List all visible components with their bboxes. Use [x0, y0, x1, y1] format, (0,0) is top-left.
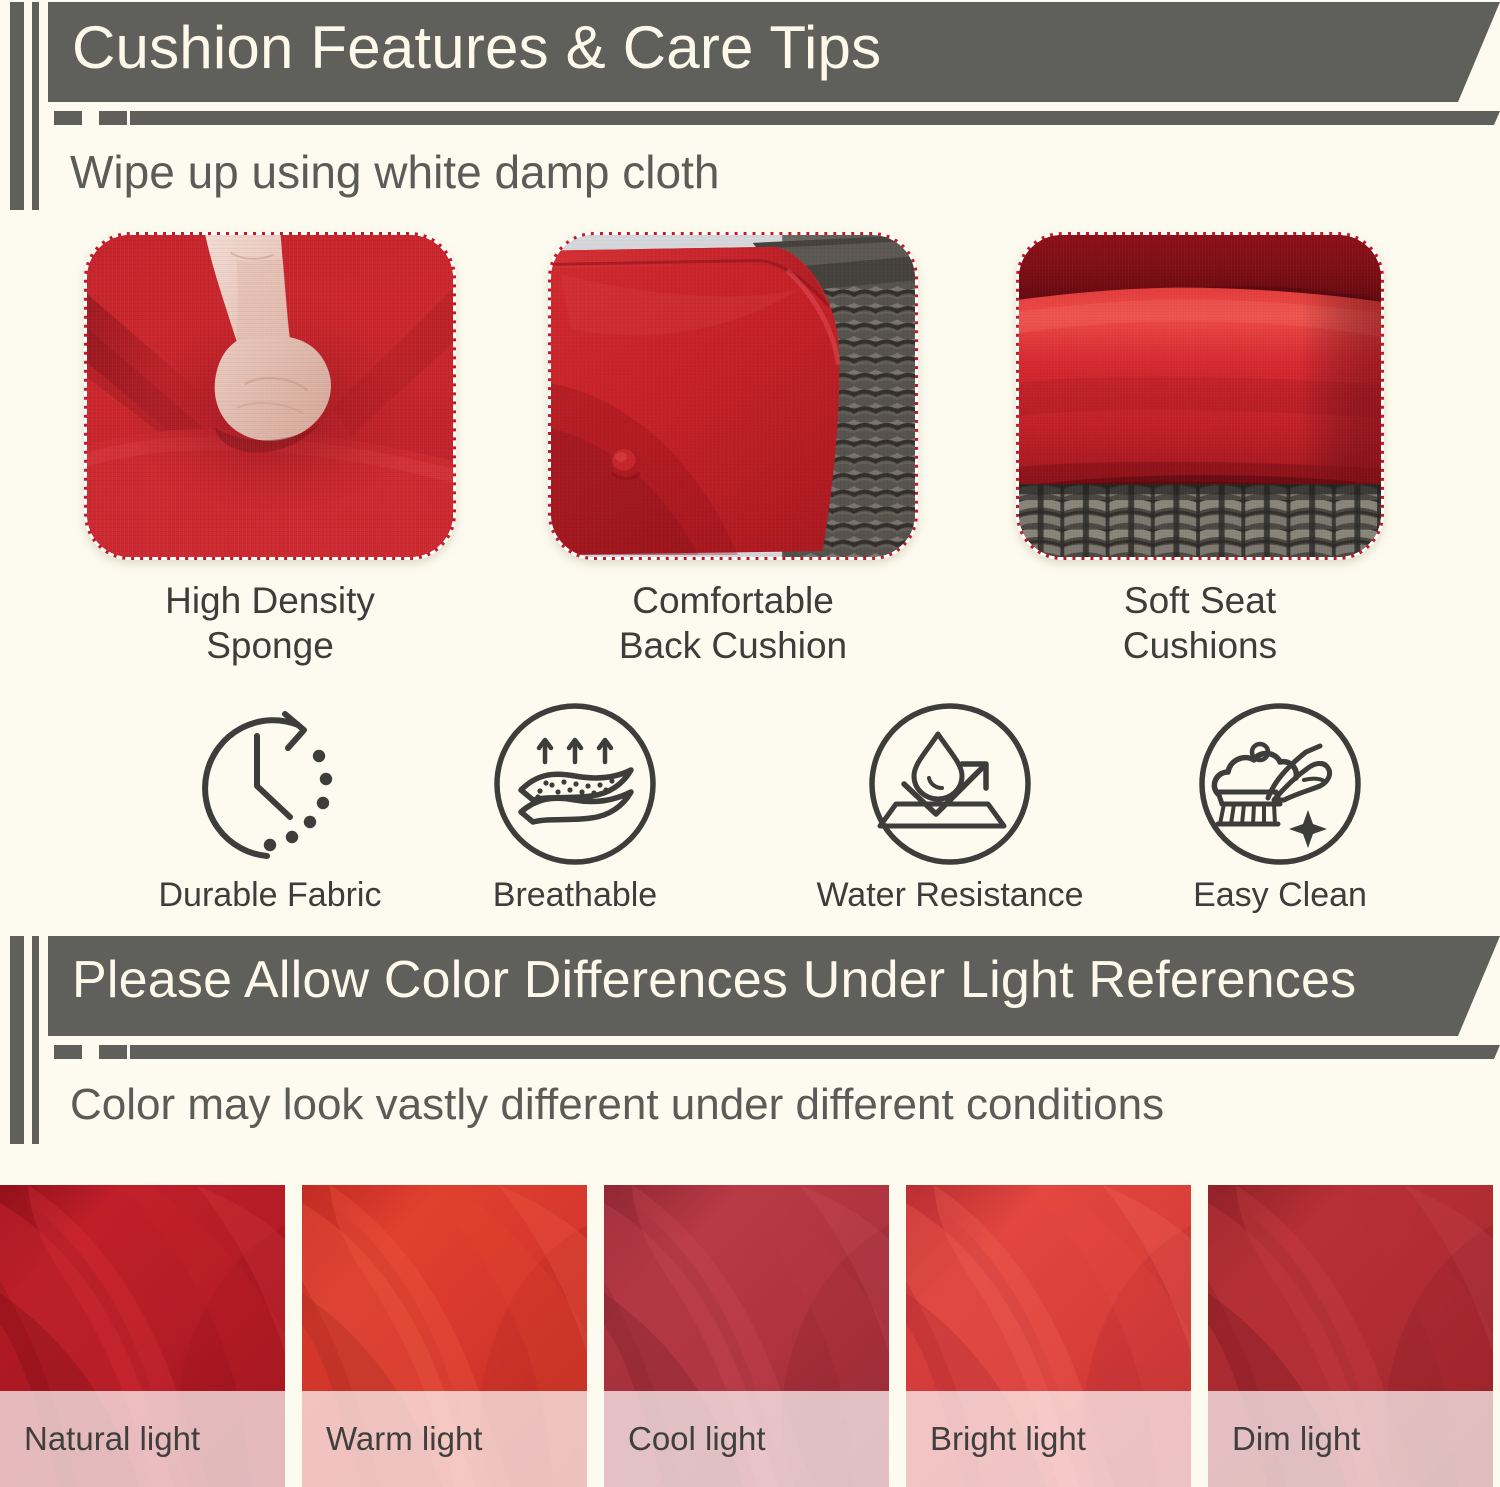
swatch-label-bar: Cool light — [604, 1391, 889, 1487]
dash-segment — [99, 111, 127, 125]
banner-title-2: Please Allow Color Differences Under Lig… — [72, 950, 1356, 1010]
swatch-warm-light: Warm light — [302, 1185, 587, 1487]
feature-durable-fabric: Durable Fabric — [80, 700, 460, 915]
dash-segment — [234, 111, 262, 125]
swatch-label-bar: Natural light — [0, 1391, 285, 1487]
feature-label: Easy Clean — [1130, 876, 1430, 915]
dash-segment — [54, 111, 82, 125]
hand-pressing-cushion-photo — [87, 235, 453, 557]
swatch-natural-light: Natural light — [0, 1185, 285, 1487]
seat-cushion-on-wicker-photo — [1019, 235, 1381, 557]
photo-caption-3: Soft Seat Cushions — [1016, 578, 1384, 668]
water-resistance-icon — [866, 700, 1034, 868]
swatch-dim-light: Dim light — [1208, 1185, 1493, 1487]
caption-line-1: Comfortable — [632, 580, 834, 621]
dash-segment — [234, 1045, 262, 1059]
dash-segment — [99, 1045, 127, 1059]
banner-title-1: Cushion Features & Care Tips — [72, 13, 881, 82]
clock-durability-icon — [186, 700, 354, 868]
breathable-fabric-icon — [491, 700, 659, 868]
subtitle-1: Wipe up using white damp cloth — [70, 145, 719, 199]
subtitle-2: Color may look vastly different under di… — [70, 1080, 1164, 1130]
swatch-label-bar: Warm light — [302, 1391, 587, 1487]
photo-caption-1: High Density Sponge — [84, 578, 456, 668]
dash-segment — [189, 111, 217, 125]
header-accent-bar-thin — [32, 936, 39, 1144]
brush-easy-clean-icon — [1196, 700, 1364, 868]
caption-line-2: Cushions — [1123, 625, 1277, 666]
dash-segment — [189, 1045, 217, 1059]
swatch-label-bar: Dim light — [1208, 1391, 1493, 1487]
photo-caption-2: Comfortable Back Cushion — [538, 578, 928, 668]
caption-line-1: Soft Seat — [1124, 580, 1276, 621]
feature-breathable: Breathable — [425, 700, 725, 915]
feature-water-resistance: Water Resistance — [770, 700, 1130, 915]
header-accent-bar-thin — [32, 2, 39, 210]
photo-card-comfortable-back-cushion — [548, 232, 918, 560]
swatch-label-bar: Bright light — [906, 1391, 1191, 1487]
photo-card-soft-seat-cushions — [1016, 232, 1384, 560]
swatch-cool-light: Cool light — [604, 1185, 889, 1487]
feature-label: Water Resistance — [770, 876, 1130, 915]
dash-segment — [54, 1045, 82, 1059]
infographic-page: Cushion Features & Care Tips Wipe up usi… — [0, 0, 1500, 1487]
swatch-label: Warm light — [302, 1420, 482, 1458]
tufted-back-cushion-photo — [551, 235, 915, 557]
caption-line-2: Sponge — [206, 625, 334, 666]
feature-label: Breathable — [425, 876, 725, 915]
caption-line-2: Back Cushion — [619, 625, 847, 666]
header-accent-bar-thick — [10, 2, 24, 210]
caption-line-1: High Density — [165, 580, 375, 621]
header-accent-bar-thick — [10, 936, 24, 1144]
dash-segment — [144, 1045, 172, 1059]
dash-segment — [144, 111, 172, 125]
swatch-bright-light: Bright light — [906, 1185, 1191, 1487]
feature-easy-clean: Easy Clean — [1130, 700, 1430, 915]
swatch-label: Cool light — [604, 1420, 766, 1458]
photo-card-high-density-sponge — [84, 232, 456, 560]
feature-label: Durable Fabric — [80, 876, 460, 915]
dash-divider-2 — [54, 1045, 374, 1059]
dash-divider-1 — [54, 111, 374, 125]
swatch-label: Bright light — [906, 1420, 1086, 1458]
swatch-label: Natural light — [0, 1420, 200, 1458]
swatch-label: Dim light — [1208, 1420, 1360, 1458]
